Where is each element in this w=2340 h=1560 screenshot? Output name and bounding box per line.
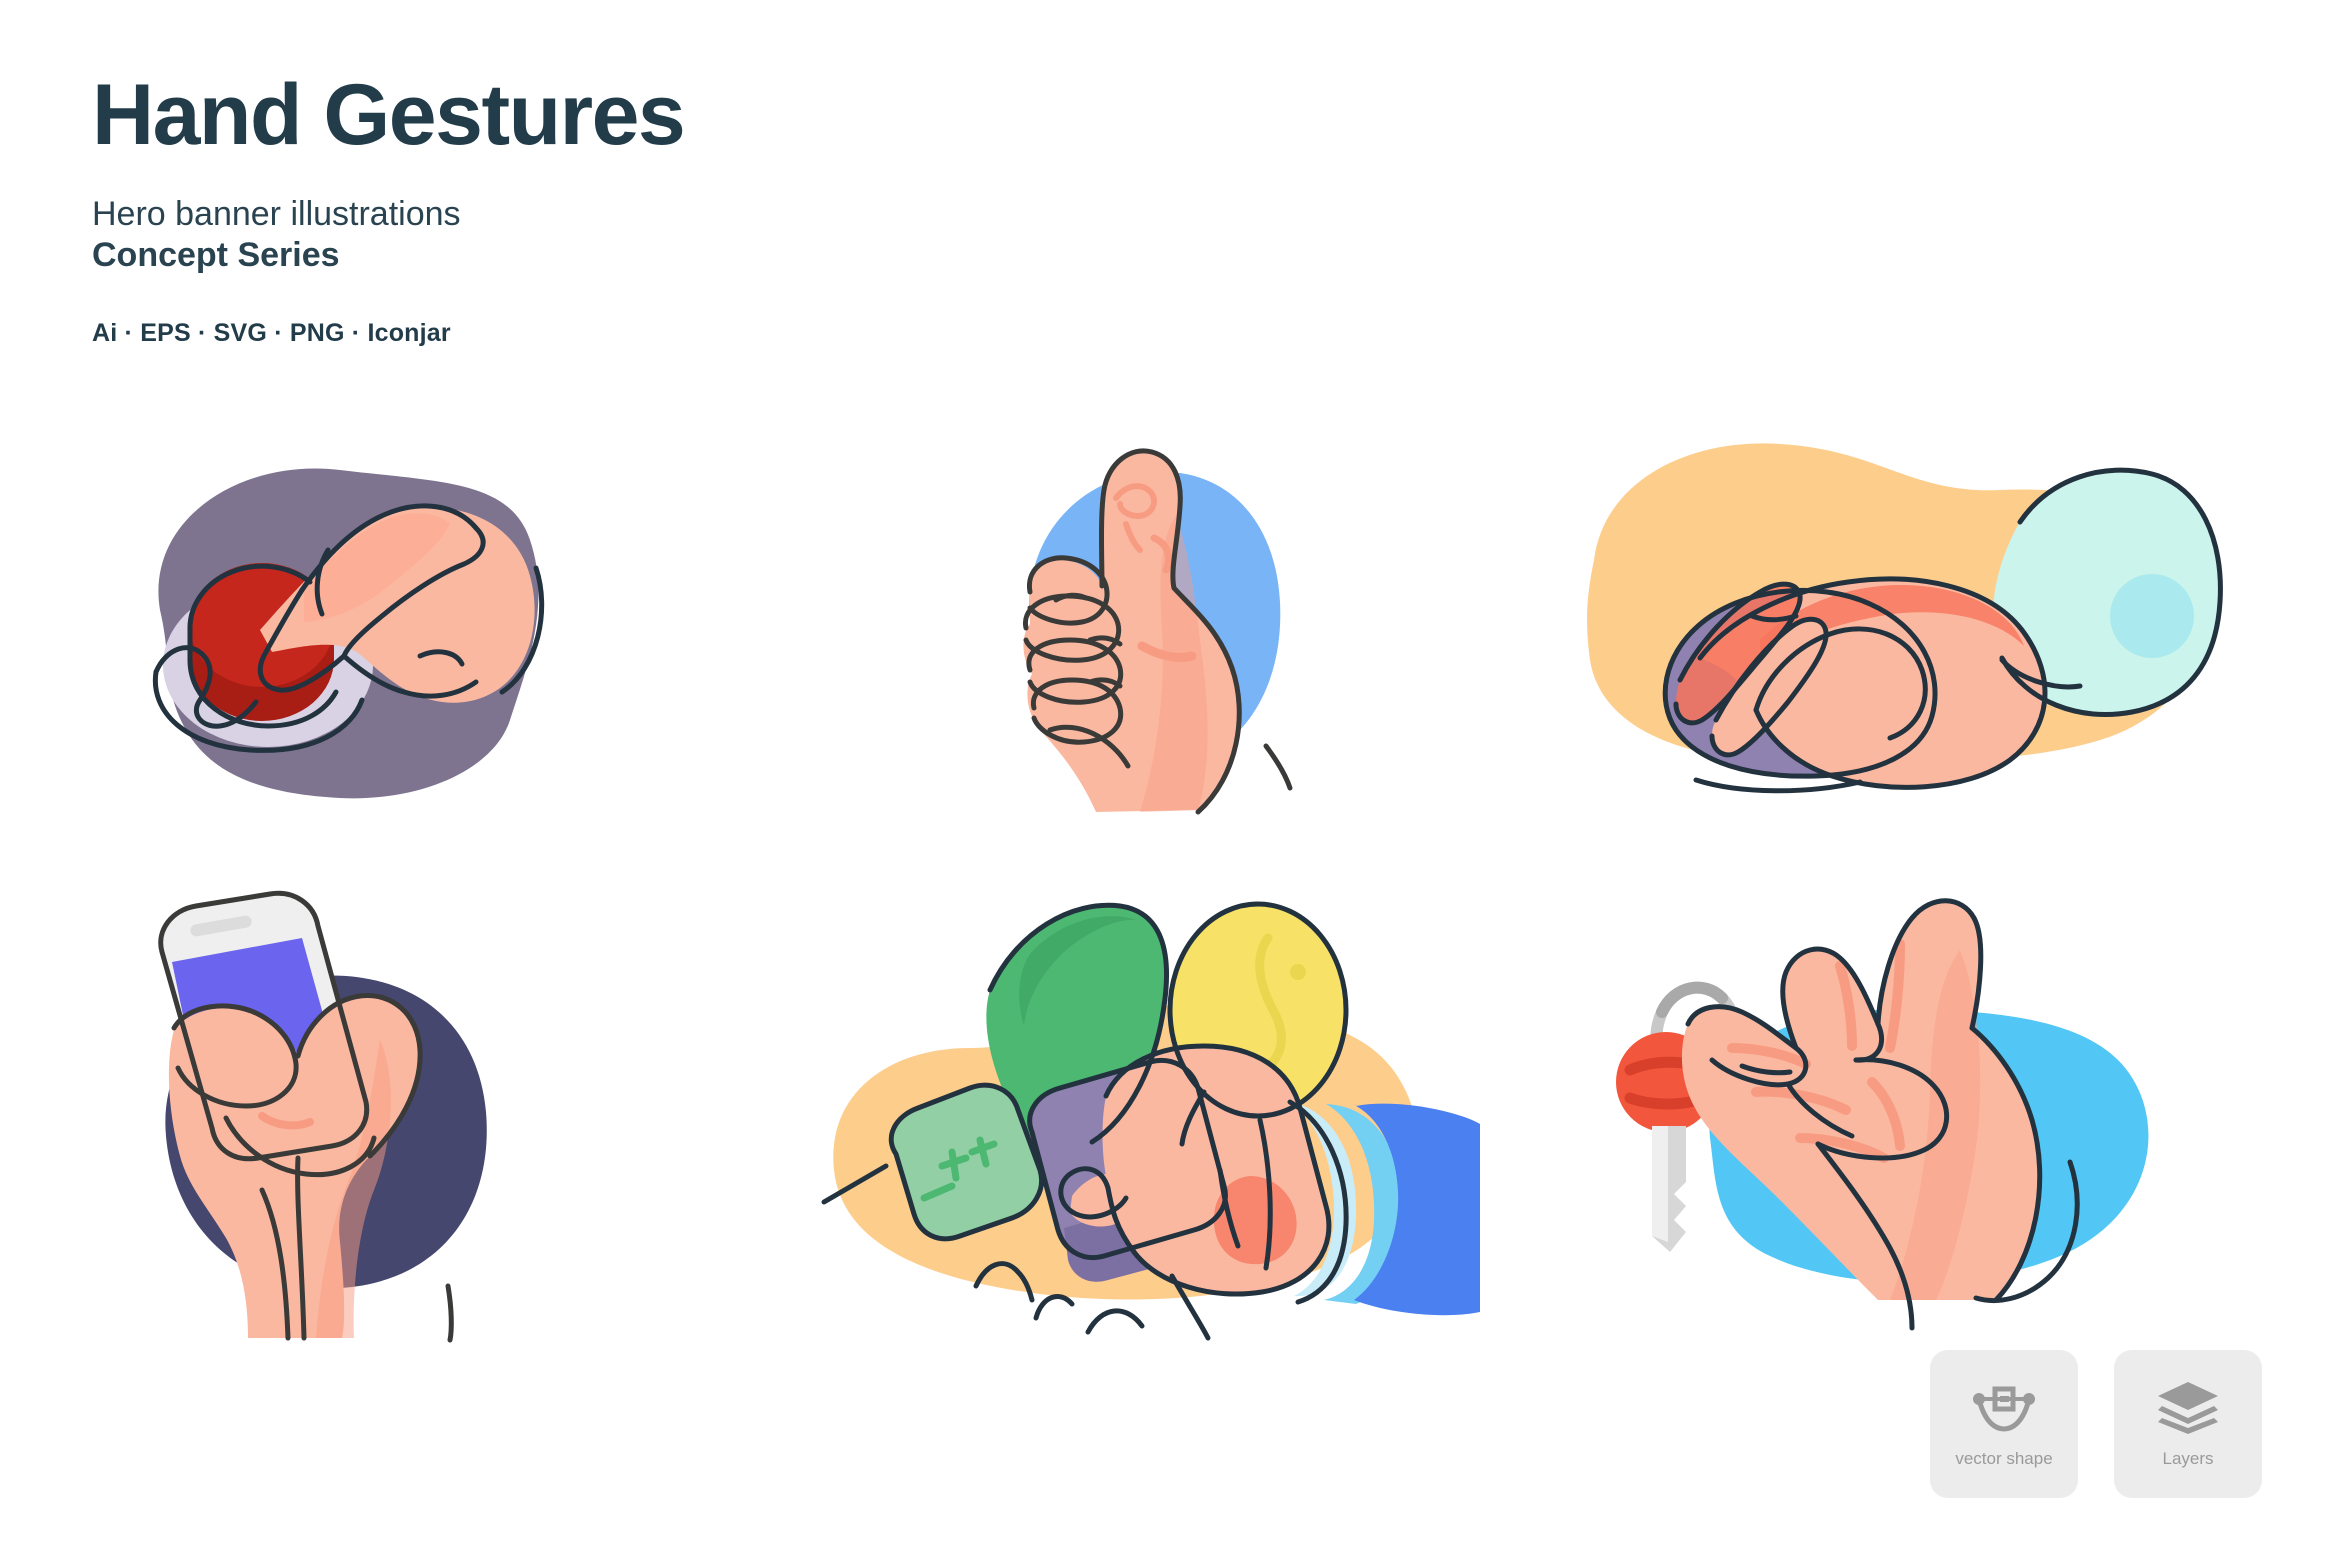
illustration-grid [70, 420, 2260, 1360]
badge-vector-shape[interactable]: vector shape [1930, 1350, 2078, 1498]
format-list: Ai · EPS · SVG · PNG · Iconjar [92, 319, 684, 348]
layers-icon [2152, 1379, 2224, 1435]
badge-vector-shape-label: vector shape [1955, 1449, 2052, 1469]
header-block: Hand Gestures Hero banner illustrations … [92, 72, 684, 348]
open-hand [1682, 901, 2040, 1300]
format-badges: vector shape Layers [1930, 1350, 2262, 1498]
illustration-hold-key [1600, 870, 2200, 1330]
subtitle-block: Hero banner illustrations Concept Series [92, 194, 684, 277]
illustration-press-button [90, 420, 560, 820]
illustration-hold-money [820, 880, 1480, 1340]
subtitle-line-2: Concept Series [92, 235, 684, 276]
poster-canvas: Hand Gestures Hero banner illustrations … [0, 0, 2340, 1560]
illustration-thumbs-up [930, 420, 1330, 820]
badge-layers[interactable]: Layers [2114, 1350, 2262, 1498]
illustration-computer-mouse [1580, 430, 2240, 810]
vector-shape-icon [1968, 1379, 2040, 1435]
page-title: Hand Gestures [92, 72, 684, 160]
badge-layers-label: Layers [2162, 1449, 2213, 1469]
illustration-hold-phone [130, 890, 560, 1340]
subtitle-line-1: Hero banner illustrations [92, 195, 461, 233]
